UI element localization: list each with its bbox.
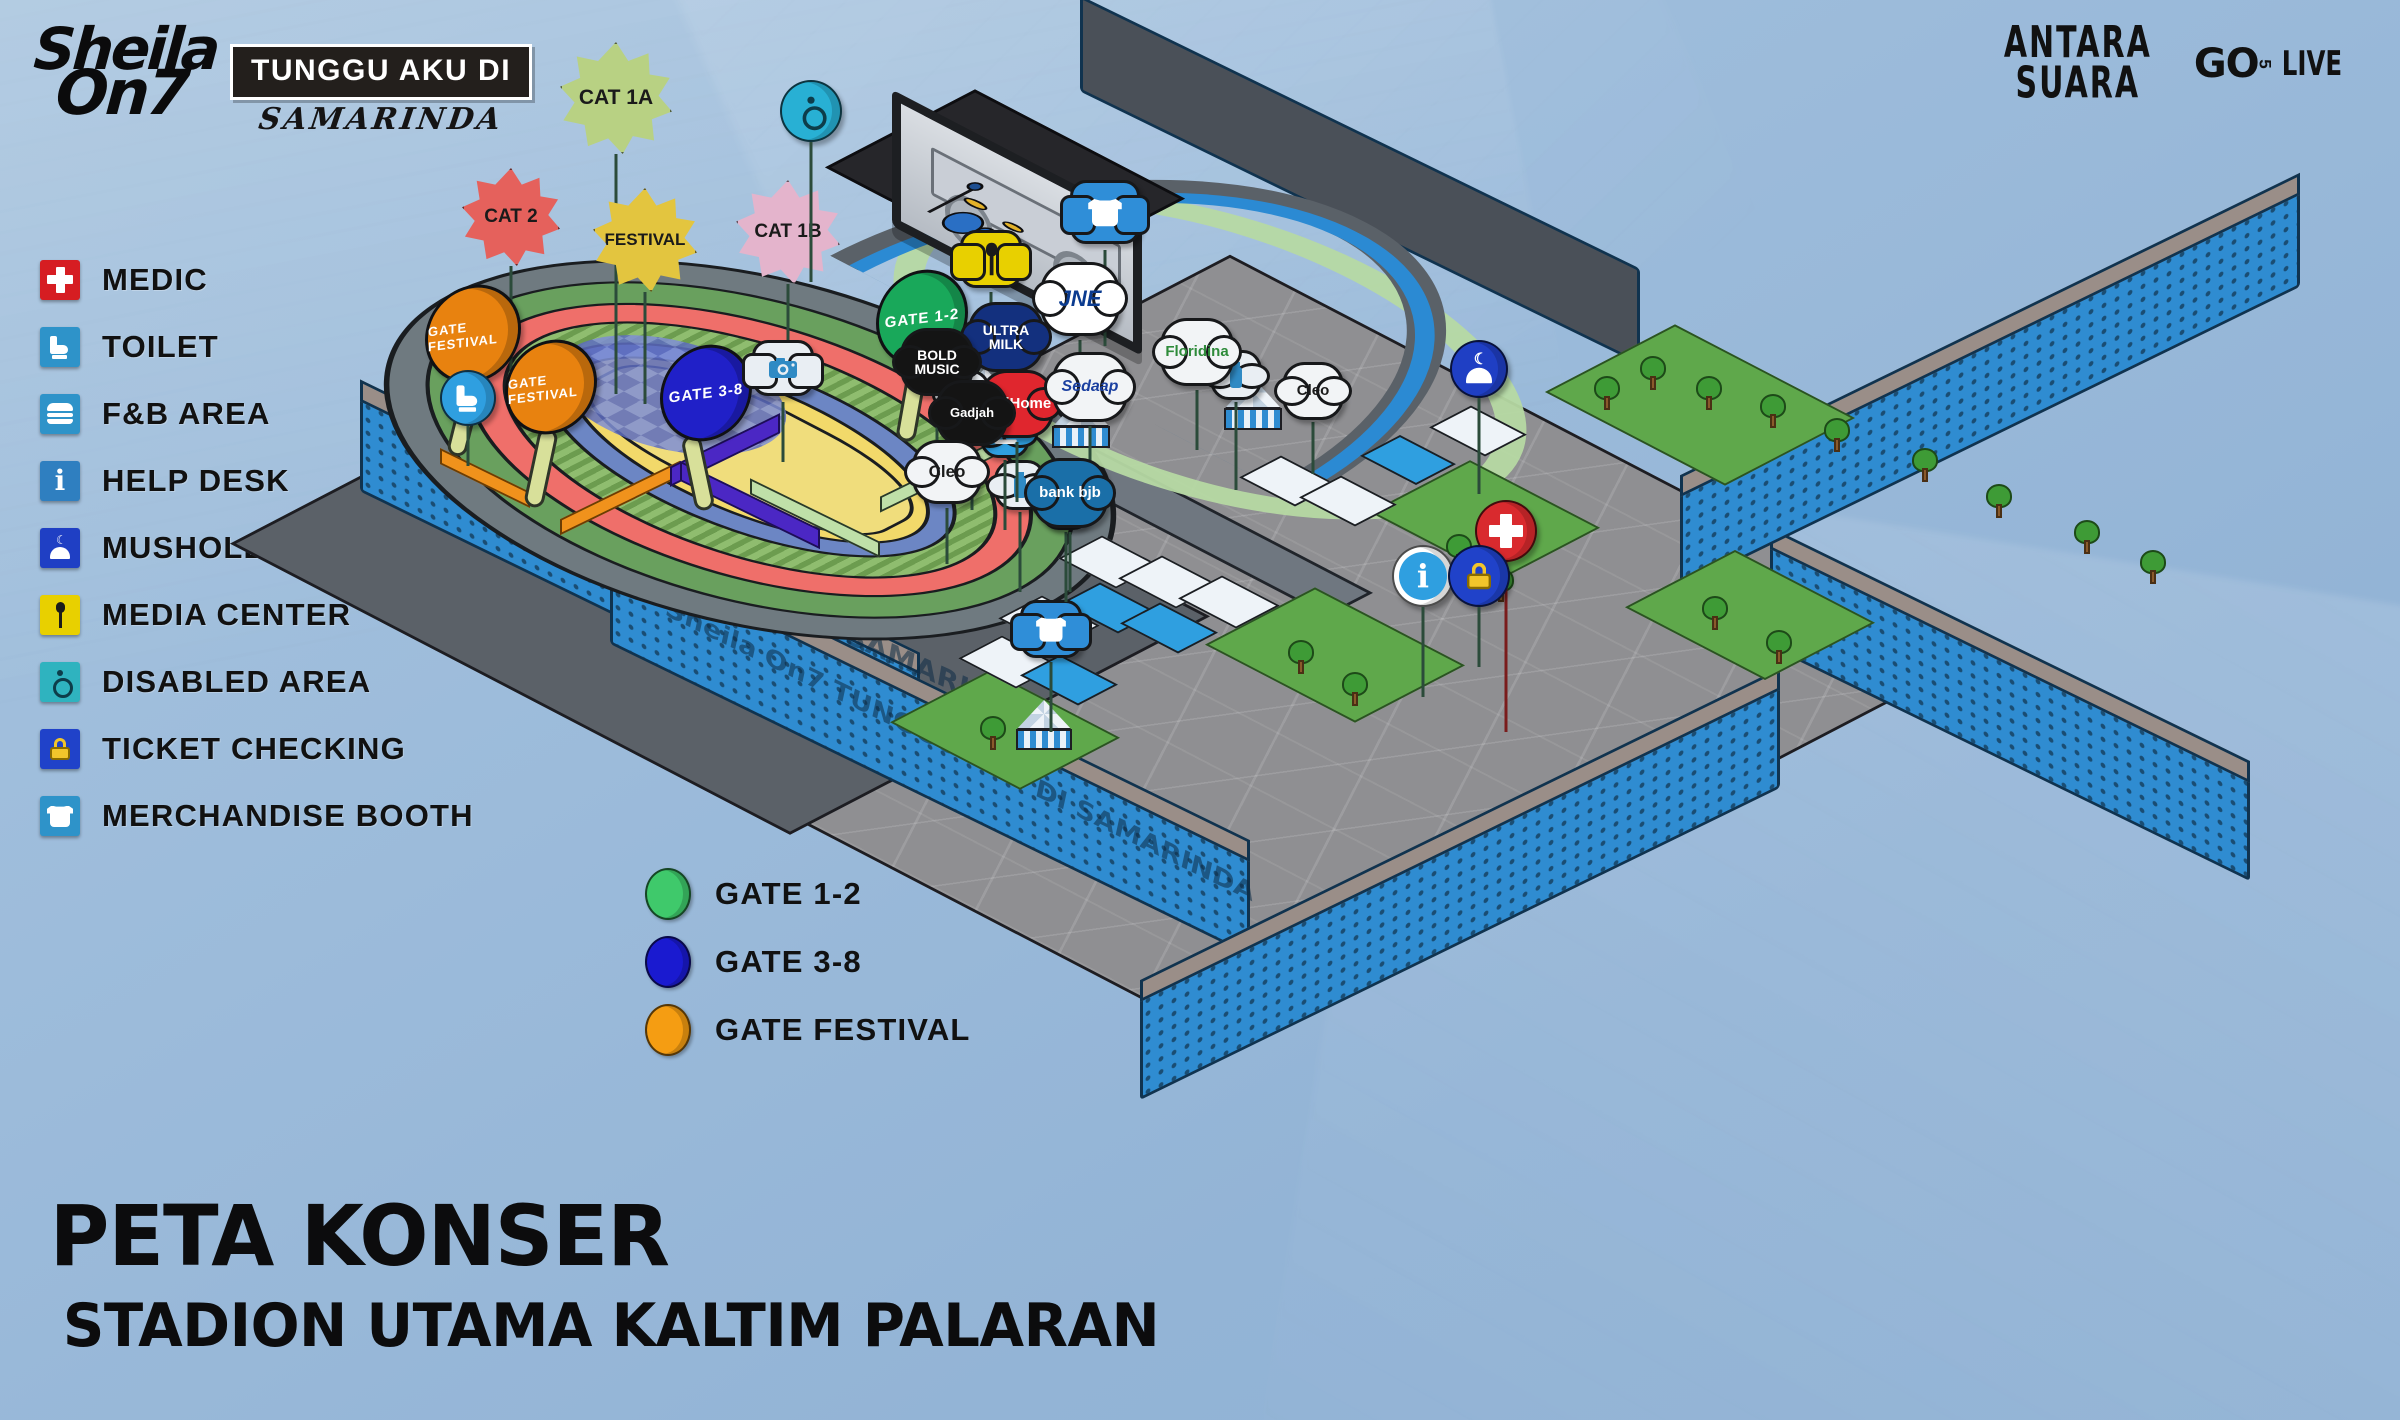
food-icon [40,394,80,434]
map-gate-3-8[interactable]: GATE 3-8 [660,345,752,441]
category-marker-cat-1b[interactable]: CAT 1B [736,180,840,284]
tree [1824,418,1850,452]
gate-badge: GATE 3-8 [660,339,752,446]
tshirt-icon [1070,180,1140,244]
sponsor-badge: JNE [1040,262,1120,336]
sponsor-name: Floridina [1165,344,1228,359]
mosque-icon [1450,340,1508,398]
legend-label: TOILET [102,329,219,365]
toilet-icon [440,370,496,426]
marker-pole [1478,607,1481,667]
sheila-on-7-logo: Sheila On7 [34,26,214,136]
tree [1640,356,1666,390]
cymbal-left [960,196,991,212]
sponsor-marker-cleo-2[interactable]: Cleo [1282,362,1344,420]
microphone-icon [40,595,80,635]
legend-label: MEDIC [102,262,208,298]
tent [1016,700,1072,750]
marker-pole [1019,512,1022,592]
sponsor-badge: Cleo [912,440,982,504]
camera-icon [752,340,814,396]
map-marker-photo-spot[interactable] [752,340,814,396]
map-marker-merchandise-booth-2[interactable] [1020,600,1082,658]
sponsor-marker-floridina[interactable]: Floridina [1160,318,1234,386]
category-marker-cat-1a[interactable]: CAT 1A [560,42,672,154]
mosque-icon [40,528,80,568]
marker-pole [1312,422,1315,474]
legend-label: HELP DESK [102,463,290,499]
venue-map: Sheila On7 TUNGGU AKU DI SAMARINDA Sheil… [380,40,2400,1200]
gate-label: GATE FESTIVAL [508,367,594,408]
category-marker-cat-2[interactable]: CAT 2 [462,168,560,266]
marker-pole [1196,390,1199,450]
legend-label: MEDIA CENTER [102,597,351,633]
sponsor-marker-bank-bjb[interactable]: bank bjb [1032,458,1108,528]
tree [1594,376,1620,410]
sponsor-name: Cleo [1297,383,1330,398]
tree [2140,550,2166,584]
sponsor-name: bank bjb [1039,485,1101,500]
category-star: FESTIVAL [593,188,697,292]
category-label: FESTIVAL [605,230,686,250]
tree [980,716,1006,750]
tree [2074,520,2100,554]
marker-pole [946,508,949,564]
marker-pole [1422,607,1425,697]
tshirt-icon [40,796,80,836]
tree [1696,376,1722,410]
info-icon: i [1392,545,1454,607]
marker-pole [1050,662,1053,732]
sponsor-marker-jne[interactable]: JNE [1040,262,1120,336]
category-star: CAT 2 [462,168,560,266]
map-marker-ticket-checking[interactable] [1448,545,1510,607]
category-star: CAT 1B [736,180,840,284]
marker-pole [1016,442,1019,502]
marker-pole [782,402,785,462]
marker-pole [1478,398,1481,494]
logo-line-2: On7 [54,68,238,119]
sponsor-badge: bank bjb [1032,458,1108,528]
category-label: CAT 1A [579,86,653,110]
sponsor-name: Gadjah [950,406,994,419]
tree [1760,394,1786,428]
medic-icon [40,260,80,300]
info-icon: i [40,461,80,501]
marker-pole [1235,402,1238,490]
sponsor-name: ULTRA MILK [971,323,1041,352]
map-marker-disabled-area[interactable] [780,80,842,142]
marker-pole [1065,532,1068,602]
legend-label: DISABLED AREA [102,664,371,700]
sponsor-marker-sedaap[interactable]: Sedaap [1052,352,1128,422]
toilet-icon [40,327,80,367]
page-subtitle: STADION UTAMA KALTIM PALARAN [63,1296,1159,1356]
sponsor-name: Cleo [929,463,966,480]
sponsor-marker-gadjah[interactable]: Gadjah [936,380,1008,446]
map-marker-toilet[interactable] [440,370,496,426]
microphone-icon [960,230,1022,288]
map-marker-media-center[interactable] [960,230,1022,288]
marker-pole [644,292,647,404]
tree [1912,448,1938,482]
legend-label: TICKET CHECKING [102,731,406,767]
page-title: PETA KONSER [50,1194,669,1278]
lock-icon [40,729,80,769]
marker-pole [467,426,470,466]
tree [1342,672,1368,706]
sponsor-badge: Gadjah [936,380,1008,446]
sponsor-name: JNE [1059,288,1102,310]
marker-pole [1069,532,1072,592]
tree [1766,630,1792,664]
marker-pole [810,142,813,282]
concert-map-poster: Sheila On7 TUNGGU AKU DI SAMARINDA ANTAR… [0,0,2400,1420]
sponsor-badge: Floridina [1160,318,1234,386]
tree [1702,596,1728,630]
wheelchair-icon [40,662,80,702]
lock-icon [1448,545,1510,607]
category-label: CAT 2 [484,206,537,228]
wheelchair-icon [780,80,842,142]
map-marker-help-desk[interactable]: i [1392,545,1454,607]
gate-badge: GATE FESTIVAL [505,334,597,439]
sponsor-name: BOLD MUSIC [903,348,971,377]
gate-label: GATE 3-8 [669,380,743,406]
legend-label: F&B AREA [102,396,271,432]
sponsor-name: Sedaap [1062,379,1119,395]
map-marker-musholla[interactable] [1450,340,1508,398]
category-marker-festival[interactable]: FESTIVAL [593,188,697,292]
sponsor-badge: Sedaap [1052,352,1128,422]
map-marker-merchandise-booth-1[interactable] [1070,180,1140,244]
tree [1288,640,1314,674]
sponsor-marker-cleo-1[interactable]: Cleo [912,440,982,504]
marker-pole [1004,460,1007,530]
map-gate-festival-2[interactable]: GATE FESTIVAL [505,340,597,434]
tshirt-icon [1020,600,1082,658]
sponsor-badge: Cleo [1282,362,1344,420]
tree [1986,484,2012,518]
category-star: CAT 1A [560,42,672,154]
